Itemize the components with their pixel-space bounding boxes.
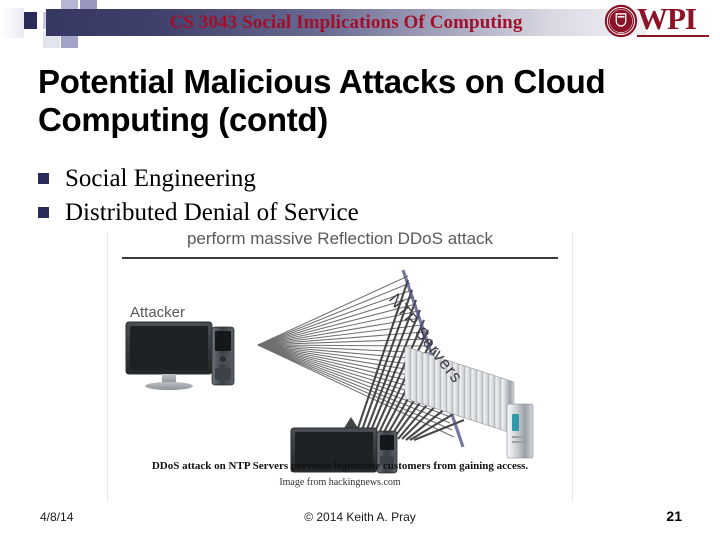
footer-copyright: © 2014 Keith A. Pray	[0, 510, 720, 524]
wpi-underline	[637, 35, 709, 37]
list-item-label: Social Engineering	[65, 163, 256, 194]
decor-gradient-fade	[0, 8, 24, 38]
bullet-list: Social Engineering Distributed Denial of…	[38, 163, 678, 231]
list-item-label: Distributed Denial of Service	[65, 197, 359, 228]
slide-header: CS 3043 Social Implications Of Computing…	[0, 0, 720, 46]
attacker-computer-icon	[126, 322, 234, 390]
bullet-square-icon	[38, 207, 49, 218]
attacker-label: Attacker	[130, 304, 185, 321]
list-item: Social Engineering	[38, 163, 678, 194]
diagram-credit: Image from hackingnews.com	[108, 477, 572, 488]
bullet-square-icon	[38, 173, 49, 184]
list-item: Distributed Denial of Service	[38, 197, 678, 228]
page-number: 21	[666, 508, 682, 524]
wpi-seal-icon: 1865	[604, 4, 638, 38]
ddos-diagram-image: perform massive Reflection DDoS attack	[107, 232, 573, 500]
course-title: CS 3043 Social Implications Of Computing	[46, 9, 646, 36]
page-title: Potential Malicious Attacks on Cloud Com…	[38, 63, 678, 139]
server-rack-icon	[403, 270, 533, 458]
wpi-logo: 1865 WPI	[604, 2, 712, 42]
diagram-caption: DDoS attack on NTP Servers prevents legi…	[108, 460, 572, 472]
svg-text:1865: 1865	[618, 31, 625, 35]
wpi-wordmark: WPI	[637, 2, 696, 35]
